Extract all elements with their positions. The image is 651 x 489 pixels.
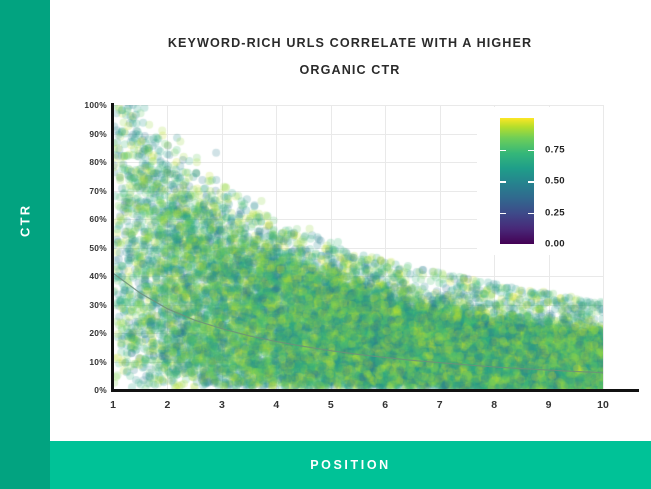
y-tick-label: 50%: [61, 243, 107, 253]
y-axis-rail: CTR: [0, 0, 50, 489]
y-axis-tick-labels: 0%10%20%30%40%50%60%70%80%90%100%: [55, 105, 107, 390]
y-tick-label: 40%: [61, 271, 107, 281]
y-tick-label: 10%: [61, 357, 107, 367]
x-tick-label: 7: [425, 399, 455, 411]
x-axis-tick-labels: 12345678910: [113, 399, 603, 417]
colorbar-tick-label: 0.75: [545, 144, 565, 155]
y-tick-label: 100%: [61, 100, 107, 110]
y-tick-label: 80%: [61, 157, 107, 167]
x-tick-label: 4: [261, 399, 291, 411]
chart-title-line-1: KEYWORD-RICH URLS CORRELATE WITH A HIGHE…: [168, 36, 532, 50]
y-tick-label: 90%: [61, 129, 107, 139]
chart-figure: KEYWORD-RICH URLS CORRELATE WITH A HIGHE…: [50, 0, 651, 441]
chart-title-line-2: ORGANIC CTR: [300, 63, 401, 77]
x-axis-bar: POSITION: [50, 441, 651, 489]
y-axis-title: CTR: [0, 0, 50, 441]
x-tick-label: 10: [588, 399, 618, 411]
y-tick-label: 70%: [61, 186, 107, 196]
x-axis-title: POSITION: [310, 458, 391, 472]
colorbar-legend: 0.750.500.250.00: [477, 107, 603, 255]
x-tick-label: 1: [98, 399, 128, 411]
colorbar-tick-label: 0.50: [545, 176, 565, 187]
x-tick-label: 3: [207, 399, 237, 411]
colorbar-tick-mark: [528, 244, 534, 246]
page-title: KEYWORD-RICH URLS CORRELATE WITH A HIGHE…: [80, 30, 620, 84]
x-tick-label: 5: [316, 399, 346, 411]
x-tick-label: 9: [534, 399, 564, 411]
y-axis-spine: [111, 103, 114, 392]
colorbar-tick-mark: [528, 213, 534, 215]
colorbar-tick-mark: [528, 150, 534, 152]
colorbar-tick-label: 0.25: [545, 207, 565, 218]
y-tick-label: 20%: [61, 328, 107, 338]
colorbar-tick-mark: [500, 213, 506, 215]
y-tick-label: 60%: [61, 214, 107, 224]
x-tick-label: 2: [152, 399, 182, 411]
colorbar-tick-label: 0.00: [545, 239, 565, 250]
gridline-vertical: [603, 105, 604, 390]
y-tick-label: 0%: [61, 385, 107, 395]
x-tick-label: 6: [370, 399, 400, 411]
colorbar-tick-mark: [500, 244, 506, 246]
y-tick-label: 30%: [61, 300, 107, 310]
colorbar-tick-mark: [500, 181, 506, 183]
colorbar-tick-mark: [528, 181, 534, 183]
x-axis-spine: [111, 389, 639, 392]
colorbar-tick-mark: [500, 150, 506, 152]
x-tick-label: 8: [479, 399, 509, 411]
